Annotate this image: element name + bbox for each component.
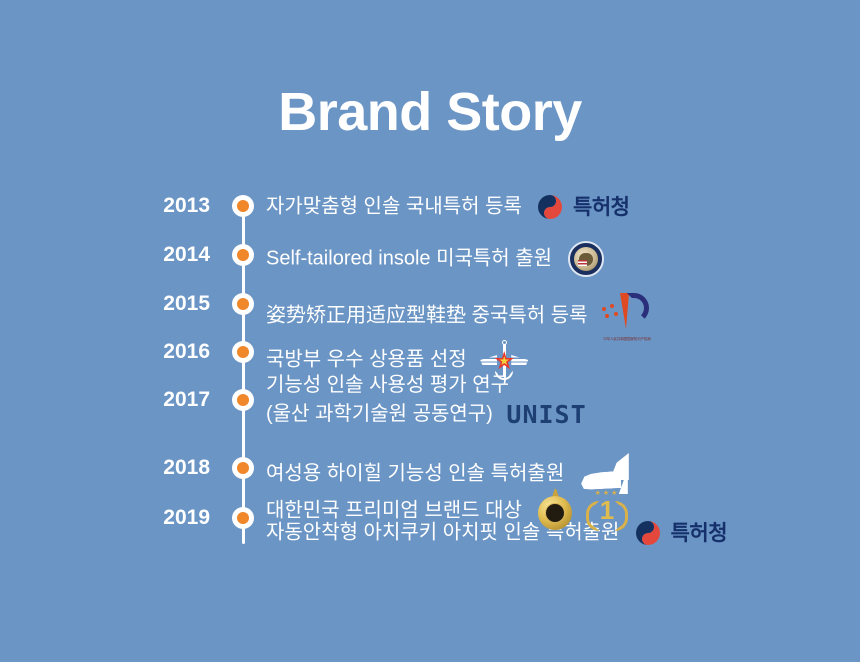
timeline-content-2016: 국방부 우수 상용품 선정 [266,338,528,367]
timeline-text-2014-line1: Self-tailored insole 미국특허 출원 [266,248,552,270]
timeline-content-2017: 기능성 인솔 사용성 평가 연구 (울산 과학기술원 공동연구) UNIST [266,371,587,429]
timeline-text-2016-line1: 국방부 우수 상용품 선정 [266,349,467,371]
timeline-text-2017-line1: 기능성 인솔 사용성 평가 연구 [266,374,509,396]
timeline-dot-2017 [232,389,254,411]
taegeuk-icon [535,192,565,222]
timeline-year-2016: 2016 [130,341,210,363]
cnipa-logo: 中华人民共和国国家知识产权局 [601,290,653,342]
timeline-year-2017: 2017 [130,389,210,411]
unist-logo: UNIST [506,400,586,429]
timeline-dot-2013 [232,195,254,217]
gold-medal-icon [535,489,575,533]
timeline-text-2017-line2: (울산 과학기술원 공동연구) [266,403,493,425]
number-one-laurel-icon: ★★★ 1 [585,489,629,533]
timeline-dot-2015 [232,293,254,315]
timeline-year-2015: 2015 [130,293,210,315]
timeline-content-2018: 여성용 하이힐 기능성 인솔 특허출원 [266,454,632,483]
high-heel-icon [580,454,632,494]
laurel-number: 1 [585,495,629,525]
us-patent-seal [568,241,604,277]
timeline-year-2014: 2014 [130,244,210,266]
kipo-wordmark: 특허청 [671,519,727,548]
timeline-text-2013-line1: 자가맞춤형 인솔 국내특허 등록 [266,196,522,218]
kipo-logo: 특허청 [535,192,629,222]
timeline-dot-2014 [232,244,254,266]
timeline-content-2013: 자가맞춤형 인솔 국내특허 등록 특허청 [266,192,629,221]
timeline-content-2014: Self-tailored insole 미국특허 출원 [266,241,604,270]
page-title: Brand Story [0,80,860,144]
timeline-dot-2018 [232,457,254,479]
timeline-content-2015: 姿势矫正用适应型鞋垫 중국특허 등록 中华人民共和国国家知识产权局 [266,290,653,319]
timeline-dot-2019 [232,507,254,529]
timeline-dot-2016 [232,341,254,363]
timeline-year-2018: 2018 [130,457,210,479]
kipo-logo: 특허청 [633,518,727,548]
timeline-text-2015-line1: 姿势矫正用适应型鞋垫 중국특허 등록 [266,305,588,327]
timeline-year-2019: 2019 [130,507,210,529]
taegeuk-icon [633,518,663,548]
timeline-text-2018-line1: 여성용 하이힐 기능성 인솔 특허출원 [266,463,564,485]
brand-story-page: Brand Story 2013 자가맞춤형 인솔 국내특허 등록 [0,0,860,662]
timeline-content-2019: 대한민국 프리미엄 브랜드 대상 ★★★ 1 자동안착형 아치쿠키 아치핏 인솔… [266,489,727,547]
cnipa-caption: 中华人民共和国国家知识产权局 [601,337,653,342]
timeline-year-2013: 2013 [130,195,210,217]
kipo-wordmark: 특허청 [573,193,629,222]
